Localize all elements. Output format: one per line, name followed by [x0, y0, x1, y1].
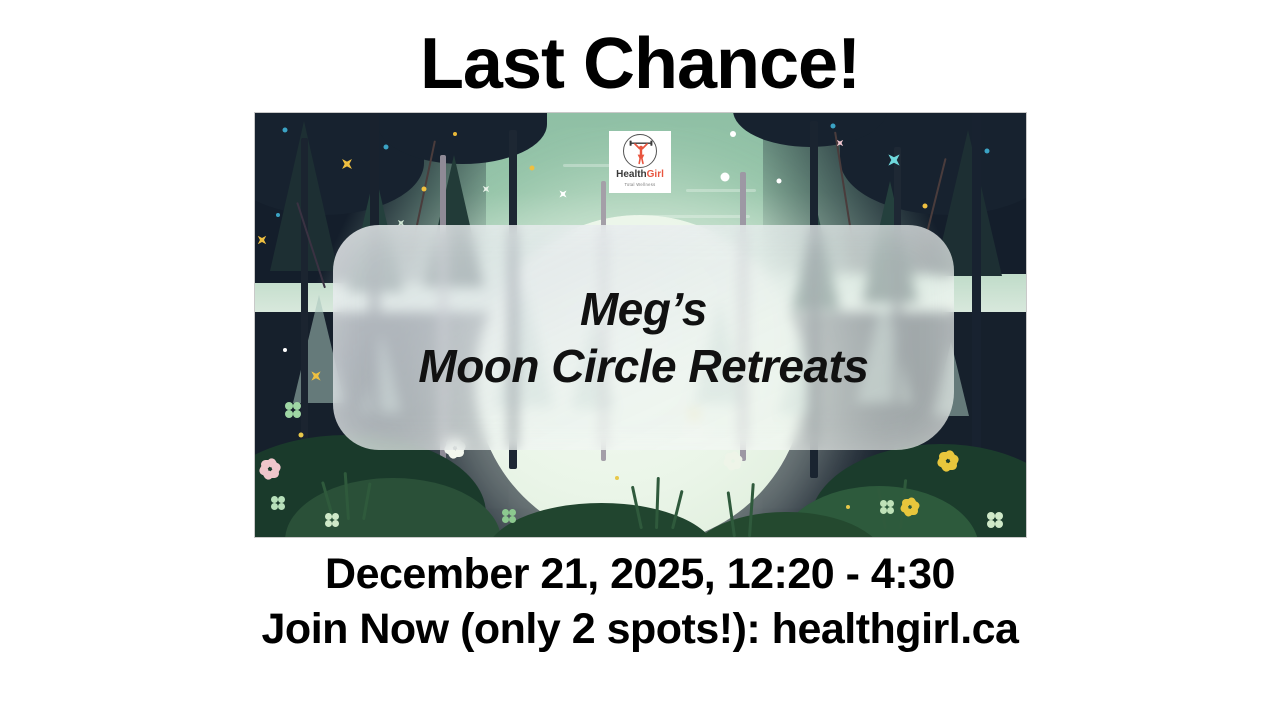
star-dot	[383, 144, 388, 149]
event-details: December 21, 2025, 12:20 - 4:30 Join Now…	[262, 552, 1019, 652]
night-forest-illustration: Meg’s Moon Circle Retreats	[254, 112, 1027, 538]
page-title: Last Chance!	[420, 28, 860, 100]
cloud-streak	[563, 164, 613, 167]
firefly-dot	[615, 476, 619, 480]
tree-trunk	[301, 138, 308, 469]
firefly-dot	[422, 187, 427, 192]
firefly-dot	[923, 204, 928, 209]
star-dot	[283, 348, 287, 352]
firefly-dot	[298, 433, 303, 438]
healthgirl-logo: HealthGirl Total Wellness	[609, 131, 671, 193]
retreat-title-line1: Meg’s	[580, 283, 707, 336]
star-dot	[283, 127, 288, 132]
logo-word-girl: Girl	[647, 169, 664, 180]
weightlifter-figure-icon	[623, 134, 657, 168]
firefly-dot	[530, 166, 535, 171]
promo-poster: Last Chance!	[0, 0, 1280, 720]
retreat-title-line2: Moon Circle Retreats	[418, 340, 868, 393]
retreat-title-block: Meg’s Moon Circle Retreats	[333, 225, 954, 450]
star-dot	[276, 213, 280, 217]
star-dot	[720, 172, 729, 181]
signup-call-to-action: Join Now (only 2 spots!): healthgirl.ca	[262, 607, 1019, 652]
star-dot	[776, 178, 781, 183]
star-dot	[984, 149, 989, 154]
firefly-dot	[453, 132, 457, 136]
tree-trunk	[972, 113, 981, 486]
logo-wordmark: HealthGirl	[616, 170, 664, 180]
firefly-dot	[846, 505, 850, 509]
star-dot	[830, 123, 835, 128]
logo-word-health: Health	[616, 169, 647, 180]
logo-tagline: Total Wellness	[624, 182, 655, 187]
event-datetime: December 21, 2025, 12:20 - 4:30	[325, 552, 955, 597]
star-dot	[730, 131, 736, 137]
